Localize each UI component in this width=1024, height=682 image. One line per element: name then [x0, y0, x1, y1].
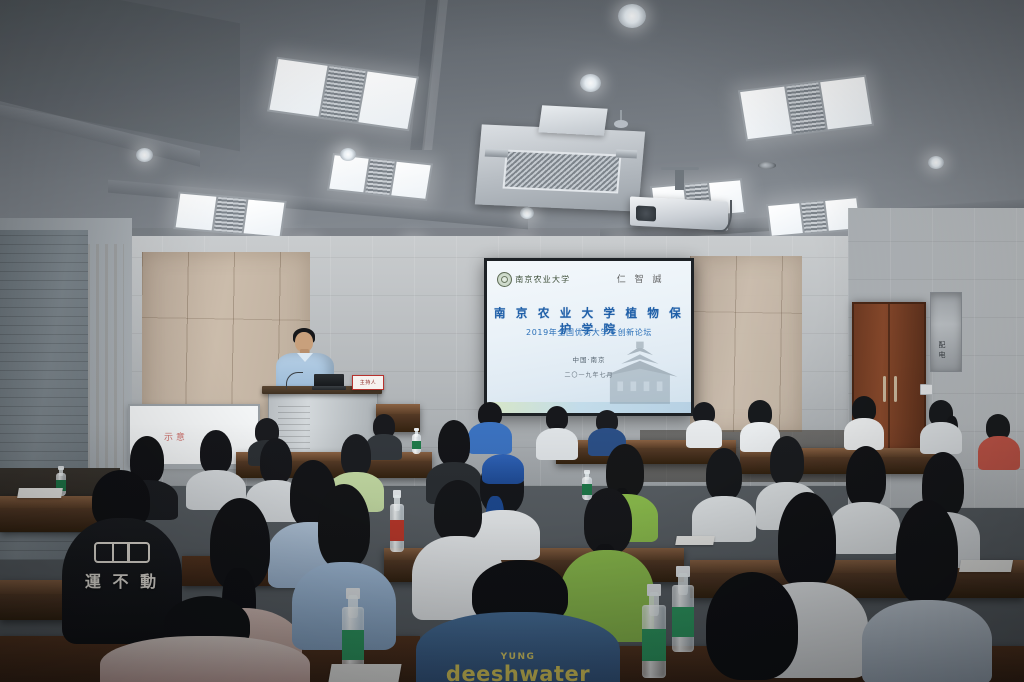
- audience-member-blue-tee: YUNG deeshwater: [416, 560, 620, 682]
- wall-light-switch[interactable]: [920, 384, 933, 395]
- shoulders: [686, 420, 722, 448]
- ac-open-panel: [539, 105, 608, 136]
- ac-intake-grille: [503, 149, 622, 193]
- hair: [706, 572, 798, 680]
- slide-surface: 南京农业大学 仁 智 誠 南 京 农 业 大 学 植 物 保 护 学 院 201…: [487, 261, 691, 413]
- speaker-nameplate-text: 主持人: [360, 379, 377, 386]
- bottle-label: [412, 441, 421, 450]
- gooseneck-microphone: [286, 372, 303, 389]
- hair: [434, 480, 482, 542]
- hair: [318, 484, 370, 568]
- light-pane: [820, 77, 871, 129]
- tee-graphic: [94, 542, 150, 563]
- ceiling-ac-cassette: [478, 128, 642, 208]
- hair: [200, 430, 232, 474]
- hair: [706, 448, 742, 500]
- university-logo: 南京农业大学: [497, 272, 570, 287]
- audience-member: [692, 448, 756, 540]
- light-louver: [365, 159, 395, 195]
- audience-member: [862, 500, 992, 682]
- electrical-panel-label: 配电: [939, 340, 954, 360]
- bottle-label: [390, 520, 404, 541]
- ac-vane: [615, 150, 637, 159]
- projector-lens: [636, 206, 656, 222]
- audience-member: [920, 400, 962, 454]
- water-bottle[interactable]: [412, 428, 421, 454]
- desk-top: [376, 404, 420, 414]
- light-louver: [786, 82, 826, 133]
- fire-sprinkler-head: [614, 110, 628, 128]
- shoulders: [416, 612, 620, 682]
- shoulders: [978, 436, 1020, 470]
- calligraphy-motto: 仁 智 誠: [617, 272, 665, 285]
- ceiling-speaker-grille: [758, 162, 776, 169]
- laptop-on-lectern: [314, 374, 344, 387]
- ceiling-downlight: [136, 148, 153, 162]
- water-bottle[interactable]: [672, 566, 694, 652]
- light-pane: [768, 203, 802, 235]
- ac-vane: [484, 148, 508, 157]
- shoulders: [920, 422, 962, 454]
- hair: [896, 500, 958, 604]
- projector-mount-pole: [675, 170, 684, 191]
- bottle-label: [342, 630, 364, 660]
- light-pane: [358, 71, 416, 129]
- slide-location: 中国·南京: [487, 354, 691, 364]
- water-bottle[interactable]: [582, 470, 592, 500]
- audience-member: [686, 402, 722, 446]
- sprinkler-deflector: [614, 120, 628, 128]
- light-pane: [243, 200, 284, 237]
- speaker-nameplate: 主持人: [352, 375, 384, 390]
- ceiling-downlight: [340, 148, 356, 161]
- ceiling-projector: [630, 188, 728, 228]
- projection-screen: 南京农业大学 仁 智 誠 南 京 农 业 大 学 植 物 保 护 学 院 201…: [484, 258, 694, 416]
- slide-date: 二〇一九年七月: [487, 370, 691, 379]
- audience-member: [978, 414, 1020, 468]
- hair: [770, 436, 804, 486]
- shoulders: [862, 600, 992, 682]
- audience-member: [844, 396, 884, 448]
- bottle-label: [582, 484, 592, 494]
- bottle-label: [672, 607, 694, 636]
- light-pane: [269, 59, 327, 117]
- shoulders: [536, 428, 578, 460]
- ceiling-downlight: [928, 156, 944, 169]
- audience-member: [186, 430, 246, 504]
- slide-subtitle: 2019年全国优秀大学生创新论坛: [487, 327, 691, 338]
- shoulders: [100, 636, 310, 682]
- water-bottle[interactable]: [390, 490, 404, 552]
- ceiling-downlight: [520, 207, 534, 219]
- audience-member: [536, 406, 578, 460]
- door-seam: [888, 304, 890, 456]
- door-handle[interactable]: [894, 376, 897, 402]
- audience-member: [676, 572, 826, 682]
- light-louver: [214, 197, 246, 233]
- bottle-label: [642, 629, 666, 661]
- lecture-hall-photo: 配电 南京农业大学 仁 智 誠 南 京 农 业 大 学 植 物: [0, 0, 1024, 682]
- electrical-panel-box[interactable]: 配电: [930, 292, 962, 372]
- light-pane: [176, 194, 217, 231]
- water-bottle[interactable]: [642, 584, 666, 678]
- university-seal-icon: [497, 272, 512, 287]
- handout-paper[interactable]: [17, 488, 63, 498]
- handout-paper[interactable]: [959, 560, 1013, 572]
- water-bottle[interactable]: [342, 588, 364, 676]
- light-louver: [801, 201, 828, 233]
- ceiling-downlight: [580, 74, 601, 92]
- handout-paper[interactable]: [675, 536, 715, 545]
- light-pane: [392, 162, 431, 199]
- university-logo-text: 南京农业大学: [515, 274, 570, 285]
- handout-paper[interactable]: [328, 664, 401, 682]
- ceiling-downlight: [618, 4, 646, 28]
- audience-member: [100, 596, 310, 682]
- light-pane: [740, 87, 791, 139]
